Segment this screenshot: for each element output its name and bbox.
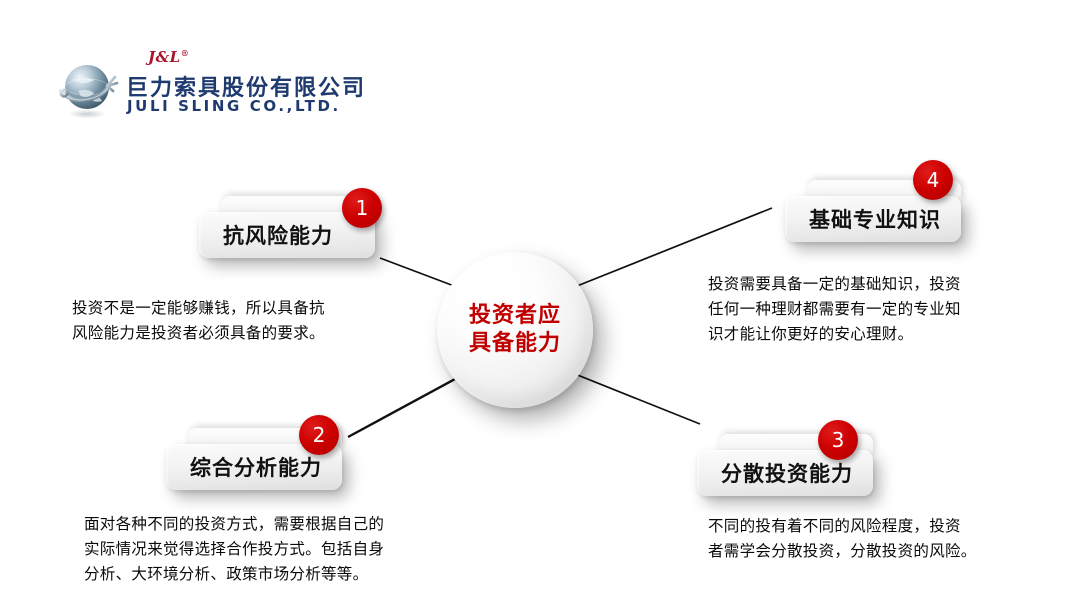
badge-number-4: 4 [913, 160, 953, 200]
center-hub: 投资者应 具备能力 [437, 252, 593, 408]
connector-line-2 [348, 372, 468, 437]
connector-line-3 [570, 372, 700, 424]
description-1: 投资不是一定能够赚钱，所以具备抗 风险能力是投资者必须具备的要求。 [72, 296, 402, 346]
callout-title-4: 基础专业知识 [785, 196, 961, 242]
description-3: 不同的投有着不同的风险程度，投资 者需学会分散投资，分散投资的风险。 [708, 514, 1028, 564]
badge-number-3: 3 [818, 420, 858, 460]
badge-number-2: 2 [299, 415, 339, 455]
badge-number-1: 1 [342, 188, 382, 228]
description-4: 投资需要具备一定的基础知识，投资 任何一种理财都需要有一定的专业知 识才能让你更… [708, 272, 1008, 347]
slide-canvas: J&L® 巨力索具股份有限公司 JULI SLING CO.,LTD. 投资者应… [0, 0, 1080, 608]
description-2: 面对各种不同的投资方式，需要根据自己的 实际情况来觉得选择合作投方式。包括自身 … [84, 512, 436, 587]
center-hub-label: 投资者应 具备能力 [469, 302, 561, 358]
